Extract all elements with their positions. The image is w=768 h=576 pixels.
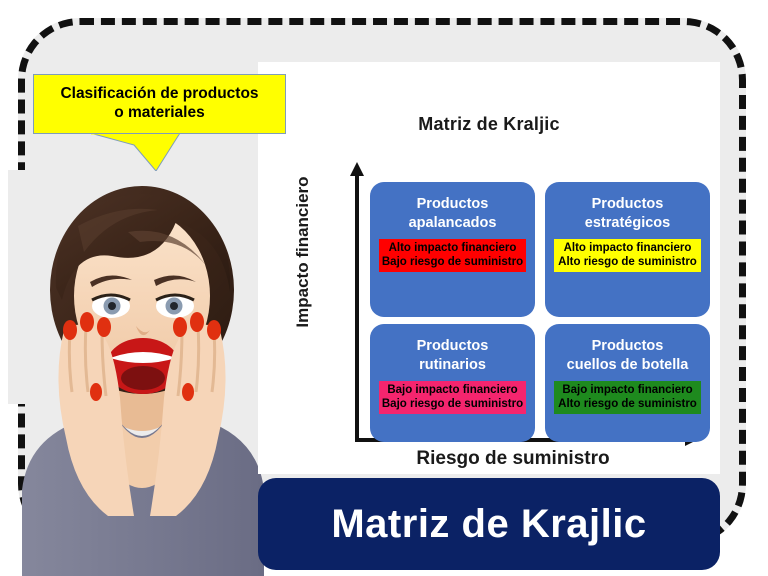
quadrant-leveraged-title-line2: apalancados	[370, 214, 535, 233]
quadrant-bottleneck-title-line2: cuellos de botella	[545, 356, 710, 375]
quadrant-strategic[interactable]: Productos estratégicos Alto impacto fina…	[545, 182, 710, 317]
callout-text: Clasificación de productos o materiales	[54, 85, 264, 123]
quadrant-strategic-tag-line2: Alto riesgo de suministro	[554, 255, 701, 269]
x-axis-label: Riesgo de suministro	[318, 448, 708, 470]
callout-tail	[90, 133, 180, 171]
quadrant-bottleneck-tag-line2: Alto riesgo de suministro	[554, 397, 701, 411]
slide-canvas: Matriz de Kraljic Impacto financiero Rie…	[0, 0, 768, 576]
matrix-title: Matriz de Kraljic	[258, 114, 720, 135]
quadrant-strategic-tag-line1: Alto impacto financiero	[554, 241, 701, 255]
quadrant-routine[interactable]: Productos rutinarios Bajo impacto financ…	[370, 324, 535, 442]
callout-line1: Clasificación de productos	[60, 85, 258, 104]
inner-mouth	[121, 366, 165, 390]
quadrant-strategic-title: Productos estratégicos	[545, 195, 710, 232]
callout-line2: o materiales	[60, 104, 258, 123]
nail	[173, 317, 187, 337]
surprised-woman-illustration	[8, 170, 276, 576]
quadrant-routine-title: Productos rutinarios	[370, 337, 535, 374]
quadrant-leveraged-title: Productos apalancados	[370, 195, 535, 232]
quadrant-routine-tag-line1: Bajo impacto financiero	[379, 383, 526, 397]
nail	[207, 320, 221, 340]
quadrant-routine-tag-line2: Bajo riesgo de suministro	[379, 397, 526, 411]
title-banner[interactable]: Matriz de Krajlic	[258, 478, 720, 570]
nail	[90, 383, 102, 401]
quadrant-strategic-title-line1: Productos	[545, 195, 710, 214]
y-axis-line	[355, 174, 359, 442]
y-axis-arrow-icon	[350, 162, 364, 176]
callout-bubble[interactable]: Clasificación de productos o materiales	[33, 74, 286, 134]
banner-title-text: Matriz de Krajlic	[331, 502, 646, 547]
quadrant-leveraged[interactable]: Productos apalancados Alto impacto finan…	[370, 182, 535, 317]
quadrant-leveraged-tag: Alto impacto financiero Bajo riesgo de s…	[379, 239, 526, 272]
quadrant-routine-title-line1: Productos	[370, 337, 535, 356]
quadrant-strategic-tag: Alto impacto financiero Alto riesgo de s…	[554, 239, 701, 272]
quadrant-leveraged-tag-line2: Bajo riesgo de suministro	[379, 255, 526, 269]
y-axis-label: Impacto financiero	[293, 157, 313, 347]
quadrant-routine-tag: Bajo impacto financiero Bajo riesgo de s…	[379, 381, 526, 414]
quadrant-bottleneck-tag: Bajo impacto financiero Alto riesgo de s…	[554, 381, 701, 414]
nail	[190, 312, 204, 332]
nail	[63, 320, 77, 340]
quadrant-bottleneck-title-line1: Productos	[545, 337, 710, 356]
quadrant-routine-title-line2: rutinarios	[370, 356, 535, 375]
nail	[182, 383, 194, 401]
quadrant-bottleneck-tag-line1: Bajo impacto financiero	[554, 383, 701, 397]
quadrant-leveraged-title-line1: Productos	[370, 195, 535, 214]
nail	[80, 312, 94, 332]
kraljic-matrix-panel: Matriz de Kraljic Impacto financiero Rie…	[258, 62, 720, 474]
shirt	[22, 410, 264, 576]
quadrant-bottleneck[interactable]: Productos cuellos de botella Bajo impact…	[545, 324, 710, 442]
nail	[97, 317, 111, 337]
quadrant-leveraged-tag-line1: Alto impacto financiero	[379, 241, 526, 255]
quadrant-strategic-title-line2: estratégicos	[545, 214, 710, 233]
quadrant-bottleneck-title: Productos cuellos de botella	[545, 337, 710, 374]
